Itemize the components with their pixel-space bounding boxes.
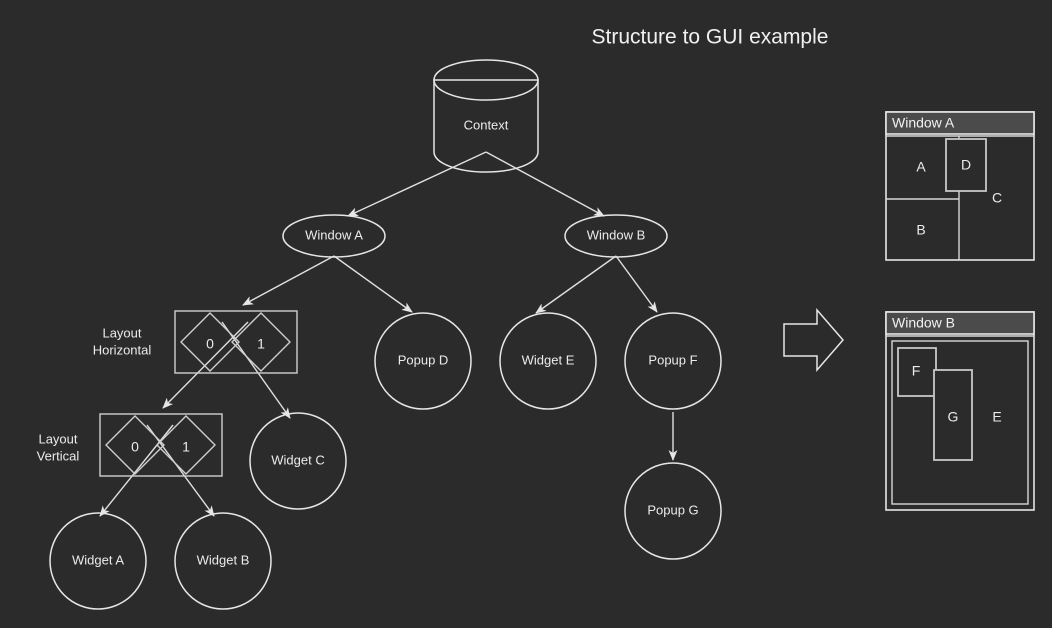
- node-window-a[interactable]: Window A: [283, 215, 385, 257]
- node-popup-d[interactable]: Popup D: [375, 313, 471, 409]
- layout-vertical-slot-0: 0: [131, 439, 139, 455]
- mockup-popup-g-label: G: [948, 409, 959, 425]
- mockup-window-b-title: Window B: [892, 315, 955, 331]
- layout-horizontal-label-line2: Horizontal: [93, 342, 152, 357]
- node-widget-e-label: Widget E: [522, 352, 575, 367]
- layout-horizontal-slot-0: 0: [206, 336, 214, 352]
- node-layout-horizontal[interactable]: 0 1 Layout Horizontal: [93, 311, 297, 373]
- node-widget-c[interactable]: Widget C: [250, 413, 346, 509]
- mockup-region-a-label: A: [916, 159, 926, 175]
- mockup-popup-f-label: F: [912, 363, 921, 379]
- mockup-window-b[interactable]: Window B E F G: [886, 312, 1034, 510]
- diagram-canvas: Structure to GUI example Cont: [0, 0, 1052, 628]
- node-context-label: Context: [464, 117, 509, 132]
- node-window-b[interactable]: Window B: [565, 215, 667, 257]
- node-window-b-label: Window B: [587, 227, 646, 242]
- node-widget-a-label: Widget A: [72, 552, 124, 567]
- node-context[interactable]: Context: [434, 60, 538, 172]
- mockup-region-c-label: C: [992, 190, 1002, 206]
- node-popup-d-label: Popup D: [398, 352, 449, 367]
- edge-window-a-popup-d: [334, 256, 412, 312]
- layout-vertical-slot-1: 1: [182, 439, 190, 455]
- edge-window-b-popup-f: [616, 256, 657, 312]
- node-popup-f-label: Popup F: [648, 352, 697, 367]
- edge-context-window-a: [348, 152, 486, 216]
- mockup-region-e-label: E: [992, 409, 1001, 425]
- node-window-a-label: Window A: [305, 227, 363, 242]
- node-widget-b[interactable]: Widget B: [175, 513, 271, 609]
- node-popup-g-label: Popup G: [647, 502, 698, 517]
- block-arrow-right-icon: [784, 310, 843, 370]
- structure-to-gui-diagram: Structure to GUI example Cont: [0, 0, 1052, 628]
- layout-horizontal-label-line1: Layout: [102, 325, 141, 340]
- node-layout-vertical[interactable]: 0 1 Layout Vertical: [37, 414, 222, 476]
- node-widget-c-label: Widget C: [271, 452, 324, 467]
- node-widget-b-label: Widget B: [197, 552, 250, 567]
- mockup-popup-d-label: D: [961, 157, 971, 173]
- node-popup-f[interactable]: Popup F: [625, 313, 721, 409]
- layout-vertical-label-line1: Layout: [38, 431, 77, 446]
- node-popup-g[interactable]: Popup G: [625, 463, 721, 559]
- node-widget-a[interactable]: Widget A: [50, 513, 146, 609]
- edge-context-window-b: [486, 152, 604, 216]
- node-widget-e[interactable]: Widget E: [500, 313, 596, 409]
- mockup-region-b-label: B: [916, 222, 925, 238]
- layout-vertical-label-line2: Vertical: [37, 448, 80, 463]
- mockup-window-a[interactable]: Window A A B C D: [886, 112, 1034, 260]
- edge-layout-h-slot-1-widget-c: [222, 322, 290, 418]
- layout-horizontal-slot-1: 1: [257, 336, 265, 352]
- page-title: Structure to GUI example: [592, 26, 829, 49]
- mockup-window-a-title: Window A: [892, 115, 955, 131]
- edge-window-b-widget-e: [536, 256, 616, 313]
- edge-window-a-layout-horizontal: [243, 256, 334, 305]
